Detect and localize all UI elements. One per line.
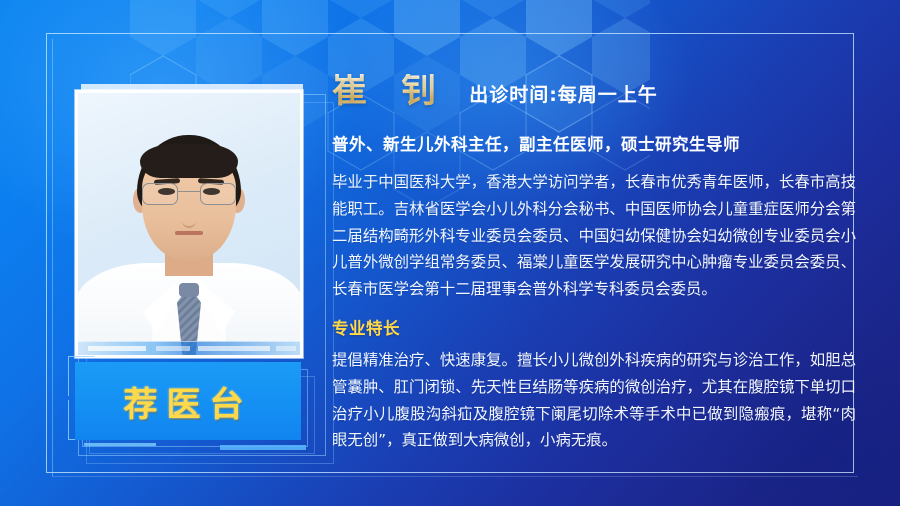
- doctor-title-line: 普外、新生儿外科主任，副主任医师，硕士研究生导师: [332, 131, 856, 155]
- eyeglasses: [140, 183, 238, 205]
- photo-bottom-tech-strip: [78, 341, 300, 355]
- headline-row: 崔 钊 出诊时间:每周一上午: [332, 74, 856, 109]
- doctor-profile-poster: 荐医台 崔 钊 出诊时间:每周一上午 普外、新生儿外科主任，副主任医师，硕士研究…: [0, 0, 900, 506]
- glasses-bridge: [178, 191, 200, 193]
- nameplate-accent-dash-right: [220, 445, 306, 450]
- nameplate-accent-dash-left: [84, 443, 156, 446]
- lens-left: [142, 183, 178, 205]
- nameplate-panel: 荐医台: [75, 362, 301, 440]
- clinic-hours: 出诊时间:每周一上午: [469, 86, 658, 109]
- expertise-heading: 专业特长: [332, 315, 856, 339]
- doctor-info-column: 崔 钊 出诊时间:每周一上午 普外、新生儿外科主任，副主任医师，硕士研究生导师 …: [332, 74, 856, 454]
- doctor-name: 崔 钊: [332, 74, 447, 109]
- lens-right: [200, 183, 236, 205]
- hair-fringe: [140, 144, 238, 178]
- doctor-photo: [75, 90, 303, 358]
- portrait-illustration: [78, 93, 300, 355]
- nameplate: 荐医台: [68, 356, 316, 448]
- nose: [182, 208, 196, 228]
- doctor-biography: 毕业于中国医科大学，香港大学访问学者，长春市优秀青年医师，长春市高技能职工。吉林…: [332, 169, 856, 303]
- nameplate-label: 荐医台: [124, 377, 253, 426]
- necktie-knot: [179, 283, 199, 297]
- photo-and-nameplate-column: 荐医台: [68, 84, 316, 446]
- doctor-expertise-text: 提倡精准治疗、快速康复。擅长小儿微创外科疾病的研究与诊治工作，如胆总管囊肿、肛门…: [332, 347, 856, 454]
- mouth: [175, 231, 203, 235]
